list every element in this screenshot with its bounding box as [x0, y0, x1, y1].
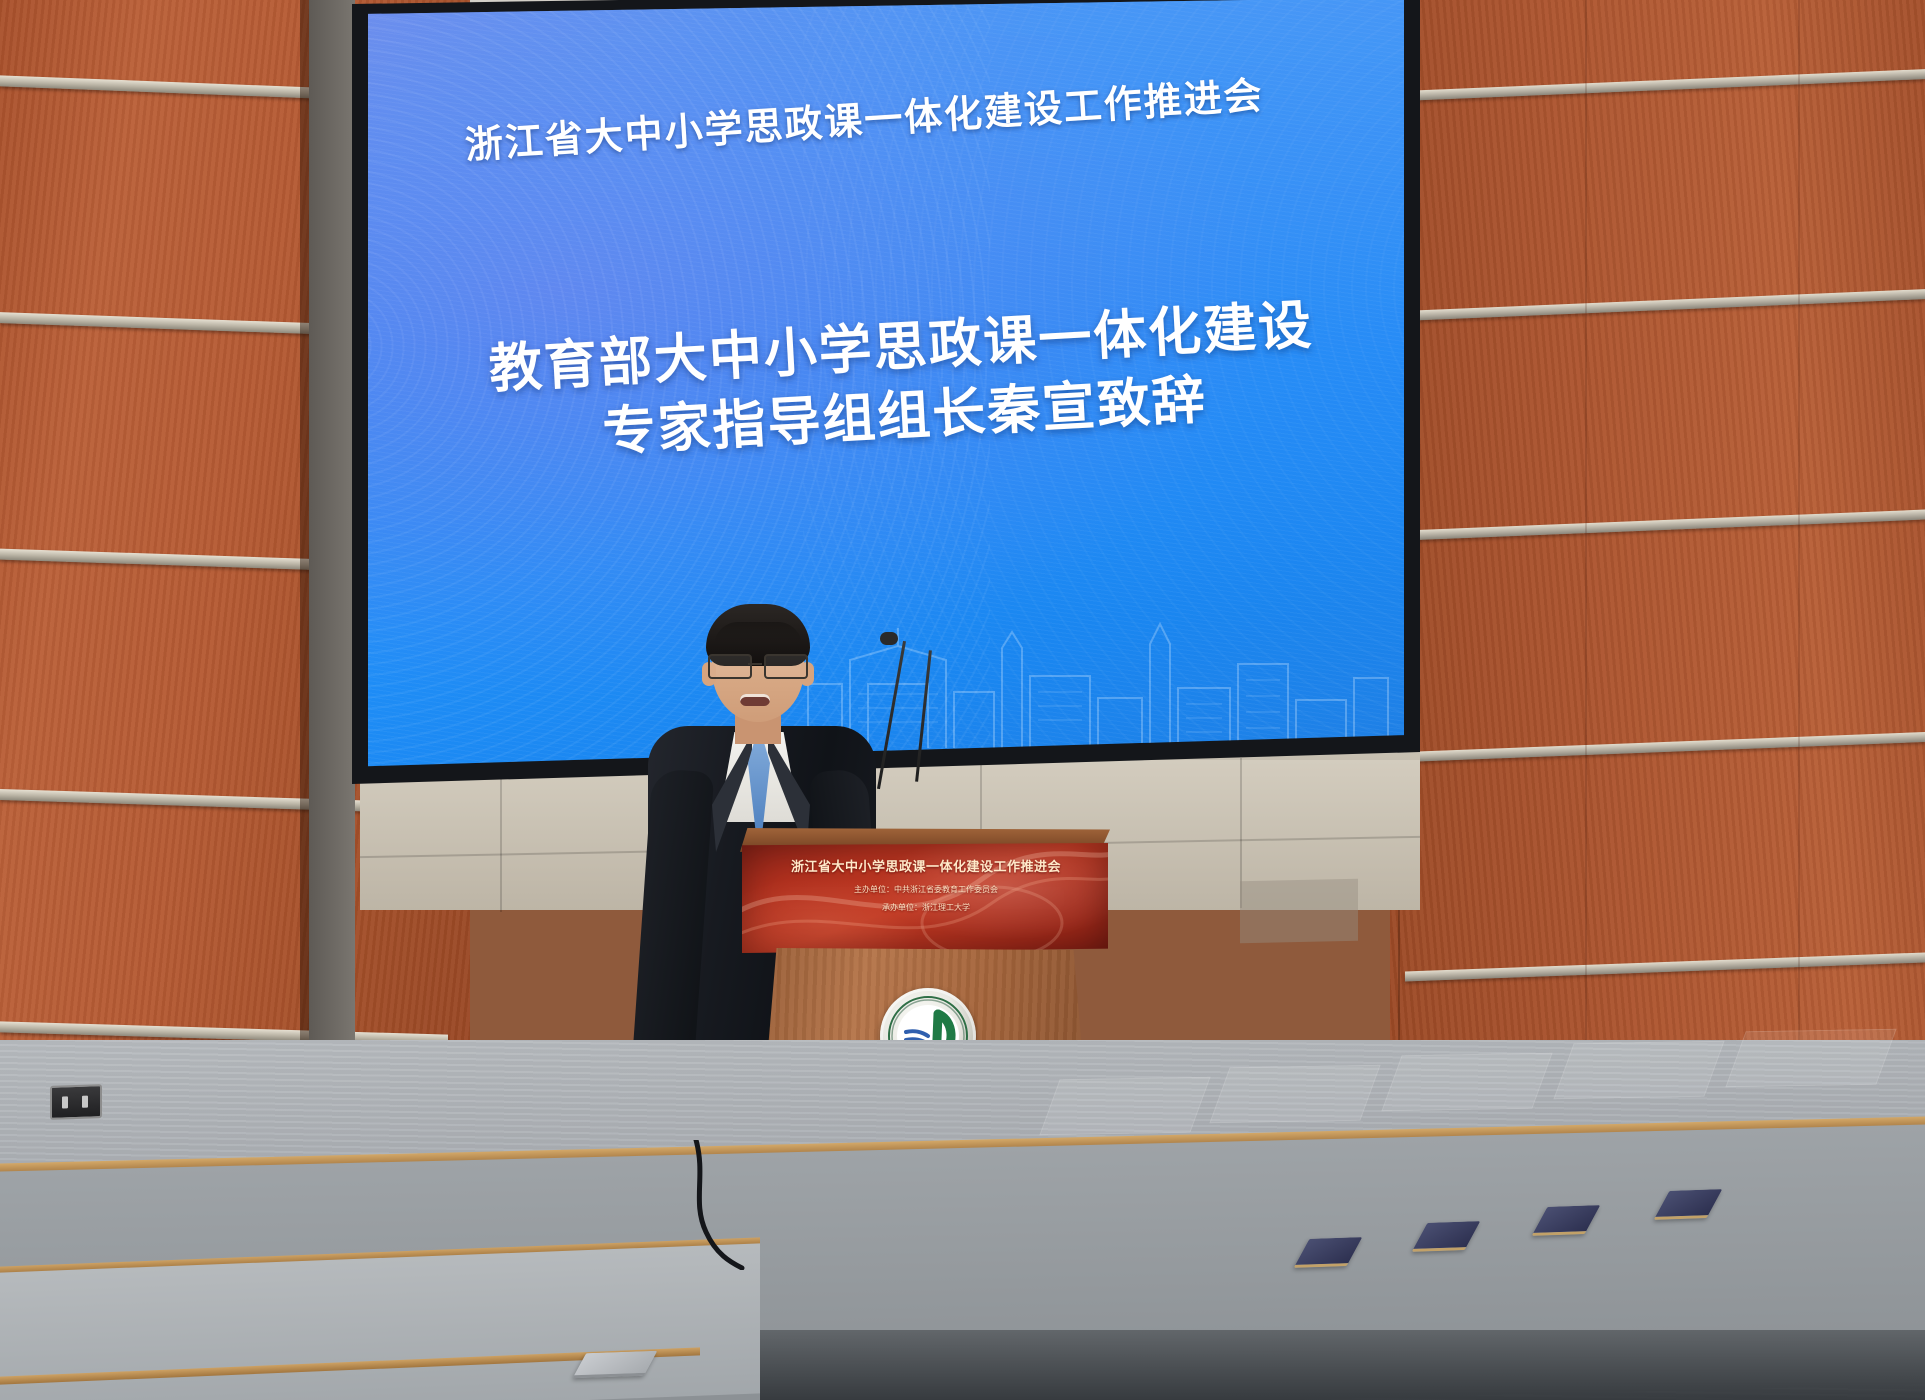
- floor-tile: [1553, 1041, 1724, 1100]
- microphone-cable: [690, 1140, 820, 1270]
- conference-hall-scene: 浙江省大中小学思政课一体化建设工作推进会 教育部大中小学思政课一体化建设 专家指…: [0, 0, 1925, 1400]
- podium-banner-organizer: 主办单位：中共浙江省委教育工作委员会: [756, 884, 1096, 895]
- floor-tile: [1725, 1029, 1896, 1088]
- podium-banner-title: 浙江省大中小学思政课一体化建设工作推进会: [756, 856, 1096, 875]
- back-wall-seam: [500, 762, 502, 912]
- wall-panel-seam: [1585, 0, 1587, 1120]
- floor-tile: [1381, 1053, 1552, 1112]
- floor-tile: [1209, 1065, 1380, 1124]
- wall-panel-seam: [1798, 0, 1800, 1115]
- microphone-icon: [880, 632, 898, 645]
- floor-tile: [1039, 1077, 1210, 1136]
- wall-dark-column: [309, 0, 355, 1120]
- eyeglasses-icon: [708, 654, 810, 676]
- stage-lower-shadow: [760, 1330, 1925, 1400]
- mouth: [740, 694, 770, 706]
- podium-banner-text: 浙江省大中小学思政课一体化建设工作推进会 主办单位：中共浙江省委教育工作委员会 …: [756, 856, 1096, 913]
- podium-banner-host: 承办单位：浙江理工大学: [756, 902, 1096, 913]
- floor-marker-plate: [573, 1351, 658, 1378]
- wall-corner-seam: [300, 0, 309, 1180]
- power-outlet-icon: [50, 1084, 102, 1120]
- back-wall-marking: [1240, 879, 1358, 943]
